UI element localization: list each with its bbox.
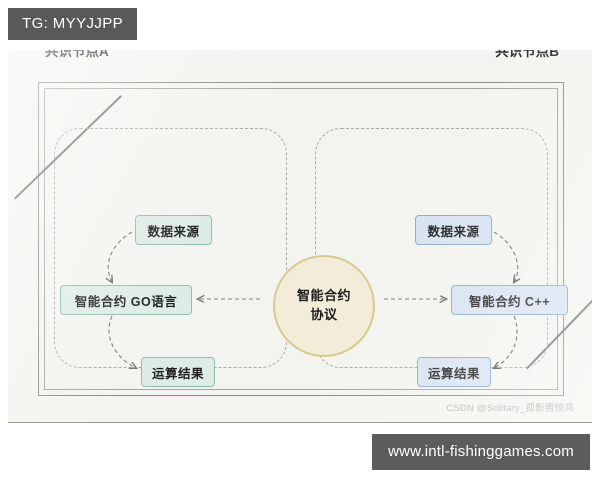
- node-a-result-box: 运算结果: [141, 357, 215, 387]
- tg-handle-badge: TG: MYYJJPP: [8, 8, 137, 40]
- consensus-node-a-panel: [54, 128, 287, 368]
- node-a-smart-contract-box: 智能合约 GO语言: [60, 285, 192, 315]
- node-b-smart-contract-box: 智能合约 C++: [451, 285, 568, 315]
- diagram-canvas: 共识节点A 共识节点B 数据来源 智能合约 GO语言 运算结果 数据来源 智能合…: [8, 50, 592, 423]
- center-label-line1: 智能合约: [297, 287, 351, 306]
- node-b-result-box: 运算结果: [417, 357, 491, 387]
- node-a-data-source-box: 数据来源: [135, 215, 212, 245]
- website-badge: www.intl-fishinggames.com: [372, 434, 590, 470]
- smart-contract-protocol-node: 智能合约 协议: [273, 255, 375, 357]
- center-label-line2: 协议: [310, 306, 337, 325]
- csdn-watermark: CSDN @Solitary_孤影照惊鸿: [446, 400, 574, 414]
- consensus-node-b-title: 共识节点B: [488, 50, 566, 60]
- node-b-data-source-box: 数据来源: [415, 215, 492, 245]
- consensus-node-a-title: 共识节点A: [38, 50, 116, 60]
